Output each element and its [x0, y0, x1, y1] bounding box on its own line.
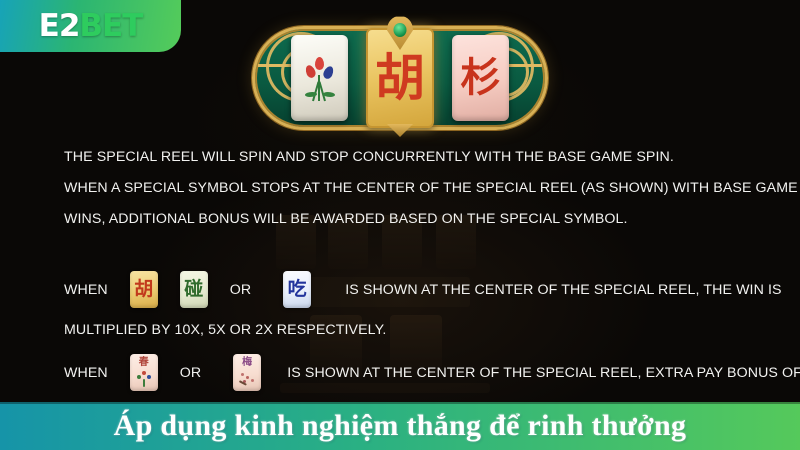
mini-tile-peng-char: 碰: [184, 280, 203, 299]
mini-tile-chi: 吃: [283, 271, 311, 308]
multiplier-when-label: WHEN: [64, 282, 108, 298]
mini-tile-peng: 碰: [180, 271, 208, 308]
paragraph-line-3: WINS, ADDITIONAL BONUS WILL BE AWARDED B…: [64, 211, 628, 227]
multiplier-rule-row: WHEN 胡 碰 OR 吃 IS SHOWN AT THE CENTER OF …: [64, 271, 782, 308]
banner-divider: [0, 402, 800, 404]
special-reel-graphic: 胡 杉: [252, 16, 548, 134]
mini-tile-mei: 梅: [233, 354, 261, 391]
mini-tile-chun: 春: [130, 354, 158, 391]
mini-tile-chun-char: 春: [139, 358, 149, 368]
reel-gem-stone-icon: [394, 23, 407, 37]
extra-pay-rule-text: IS SHOWN AT THE CENTER OF THE SPECIAL RE…: [287, 365, 800, 381]
flower-art-icon: [303, 55, 337, 101]
extra-pay-or-label: OR: [180, 365, 201, 381]
banner-text: Áp dụng kinh nghiệm thắng để rinh thưởng: [114, 409, 687, 443]
mini-tile-mei-char: 梅: [242, 358, 252, 368]
paragraph-line-1: THE SPECIAL REEL WILL SPIN AND STOP CONC…: [64, 149, 674, 165]
bottom-banner: Áp dụng kinh nghiệm thắng để rinh thưởng: [0, 402, 800, 450]
mini-tile-hu-char: 胡: [134, 280, 153, 299]
chun-flower-art-icon: 春: [133, 358, 155, 388]
mini-tile-chi-char: 吃: [288, 280, 307, 299]
logo-e2-text: E2: [39, 8, 80, 44]
mei-flower-art-icon: 梅: [236, 358, 258, 388]
paragraph-line-2: WHEN A SPECIAL SYMBOL STOPS AT THE CENTE…: [64, 180, 798, 196]
multiplier-or-label: OR: [230, 282, 251, 298]
logo-bet-text: BET: [79, 8, 142, 44]
logo-text: E2BET: [39, 11, 143, 42]
multiplier-rule-text: IS SHOWN AT THE CENTER OF THE SPECIAL RE…: [345, 282, 781, 298]
screenshot-root: E2BET: [0, 0, 800, 450]
reel-tile-zha: 杉: [452, 35, 509, 121]
multiplier-values-line: MULTIPLIED BY 10X, 5X OR 2X RESPECTIVELY…: [64, 322, 386, 338]
extra-pay-rule-row: WHEN 春 OR 梅: [64, 354, 800, 391]
extra-pay-when-label: WHEN: [64, 365, 108, 381]
mini-tile-hu: 胡: [130, 271, 158, 308]
reel-tile-hu-char: 胡: [375, 53, 425, 103]
reel-tile-zha-char: 杉: [461, 58, 501, 98]
reel-tile-flower: [291, 35, 348, 121]
paytable-body: THE SPECIAL REEL WILL SPIN AND STOP CONC…: [0, 136, 800, 394]
e2bet-logo[interactable]: E2BET: [0, 0, 181, 52]
